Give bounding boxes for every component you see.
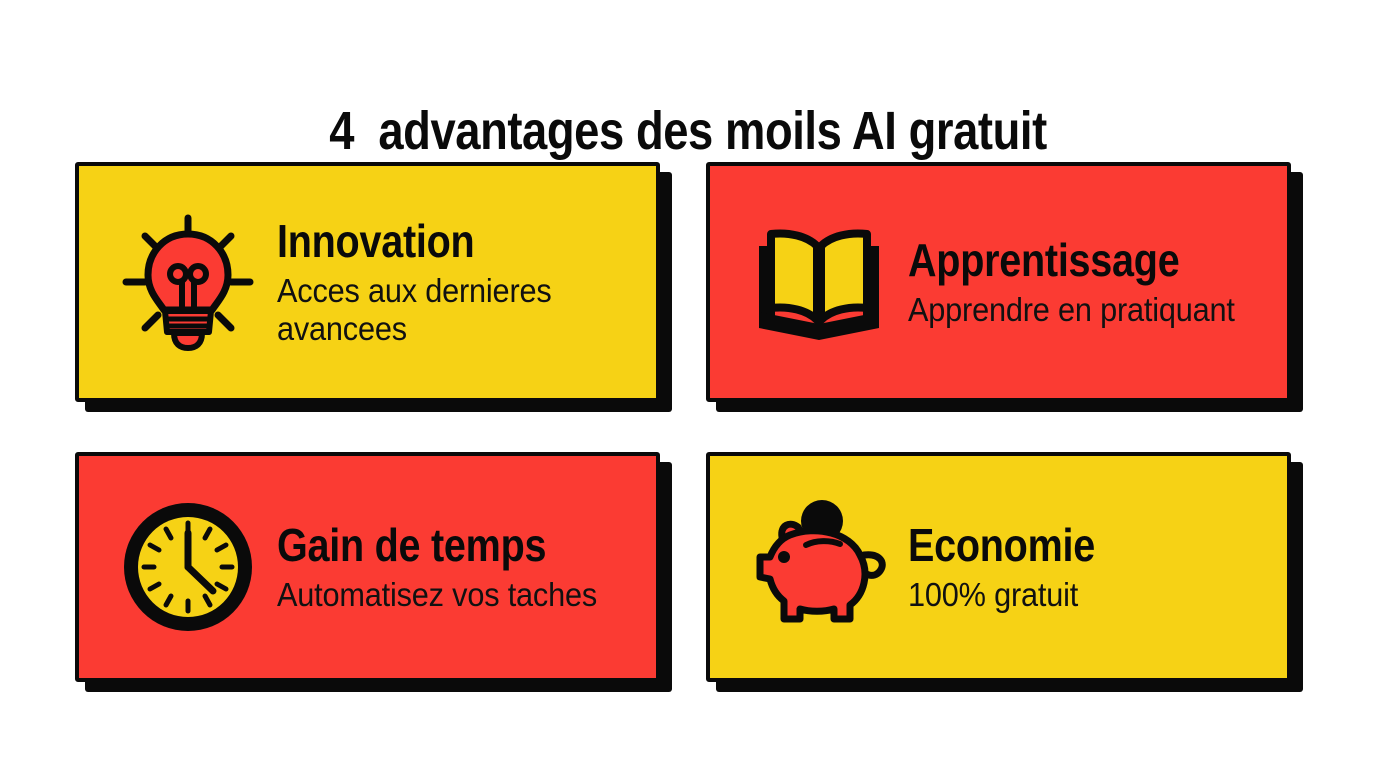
page-title: 4 advantages des moils AI gratuit — [110, 100, 1266, 162]
piggy-bank-icon — [744, 492, 894, 642]
card-gain-de-temps[interactable]: Gain de temps Automatisez vos taches — [75, 452, 660, 682]
card-text-innovation: Innovation Acces aux dernieres avancees — [277, 216, 656, 348]
card-heading: Innovation — [277, 216, 589, 266]
card-subtitle: Acces aux dernieres avancees — [277, 272, 615, 348]
card-text-gain-de-temps: Gain de temps Automatisez vos taches — [277, 520, 656, 614]
card-innovation[interactable]: Innovation Acces aux dernieres avancees — [75, 162, 660, 402]
card-text-apprentissage: Apprentissage Apprendre en pratiquant — [908, 235, 1287, 329]
card-economie[interactable]: Economie 100% gratuit — [706, 452, 1291, 682]
card-subtitle: Apprendre en pratiquant — [908, 291, 1246, 329]
card-subtitle: Automatisez vos taches — [277, 576, 615, 614]
clock-icon — [113, 492, 263, 642]
card-heading: Gain de temps — [277, 520, 589, 570]
infographic-canvas: 4 advantages des moils AI gratuit — [0, 0, 1376, 768]
open-book-icon — [744, 207, 894, 357]
card-heading: Apprentissage — [908, 235, 1220, 285]
card-heading: Economie — [908, 520, 1220, 570]
card-subtitle: 100% gratuit — [908, 576, 1246, 614]
card-apprentissage[interactable]: Apprentissage Apprendre en pratiquant — [706, 162, 1291, 402]
card-text-economie: Economie 100% gratuit — [908, 520, 1287, 614]
lightbulb-icon — [113, 207, 263, 357]
